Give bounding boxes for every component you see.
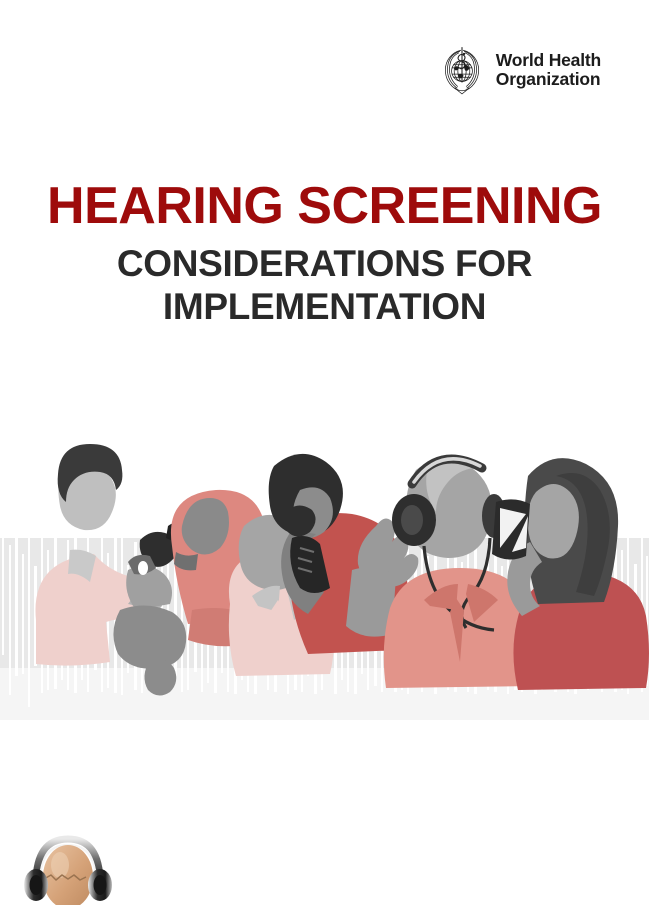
who-org-line-1: World Health <box>496 51 601 71</box>
page-subtitle-line-1: CONSIDERATIONS FOR <box>0 242 649 285</box>
who-logo: World Health Organization <box>436 44 601 96</box>
who-emblem-icon <box>436 44 488 96</box>
cover-title-block: HEARING SCREENING CONSIDERATIONS FOR IMP… <box>0 178 649 328</box>
who-org-line-2: Organization <box>496 70 601 90</box>
who-wordmark: World Health Organization <box>496 51 601 90</box>
page-title: HEARING SCREENING <box>0 178 649 234</box>
hearing-screening-illustration <box>0 420 649 750</box>
egg-with-headphones-icon <box>18 827 118 905</box>
page-subtitle-line-2: IMPLEMENTATION <box>0 285 649 328</box>
cover-page: World Health Organization HEARING SCREEN… <box>0 0 649 913</box>
page-subtitle: CONSIDERATIONS FOR IMPLEMENTATION <box>0 242 649 328</box>
